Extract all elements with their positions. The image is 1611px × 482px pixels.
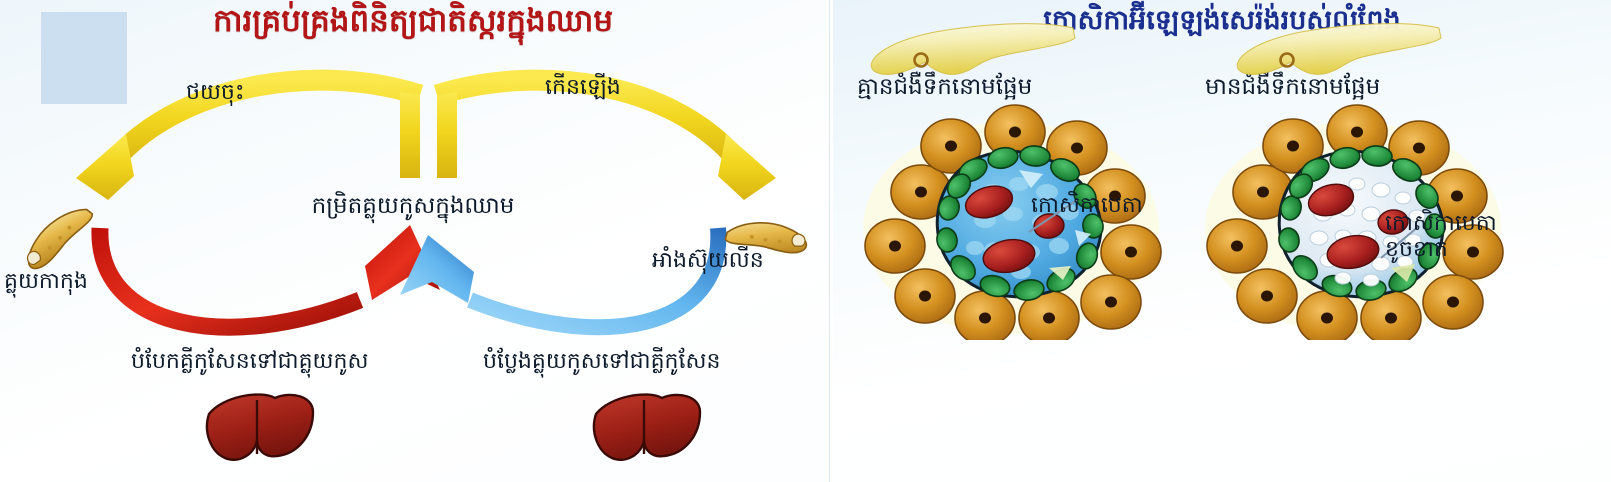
arrow-insulin-shape — [400, 228, 718, 327]
arrow-glucagon-shape — [100, 225, 440, 327]
glucagon-label: គ្លុយកាកុង — [4, 268, 88, 297]
callout-beta-cell-healthy: កោសិកាបេតា — [1031, 192, 1143, 221]
blood-glucose-level-label: កម្រិតគ្លុយកូសក្នុងឈាម — [312, 192, 515, 222]
pancreas-diagram-right — [1225, 18, 1443, 94]
left-panel: ការគ្រប់គ្រងពិនិត្យជាតិស្ករក្នុងឈាម — [0, 0, 826, 482]
callout-line-2: ខូចខាត — [1385, 237, 1611, 263]
arrow-increase-label: កើនឡើង — [545, 74, 621, 103]
callout-line-1: កោសិកាបេតា — [1385, 211, 1611, 237]
slide-root: ការគ្រប់គ្រងពិនិត្យជាតិស្ករក្នុងឈាម — [0, 0, 1611, 482]
right-panel: កោសិកាអ៊ីឡេឡង់សេរ៉ង់របស់លំពែង គ្មានជំងឺទ… — [833, 0, 1611, 482]
glycogen-breakdown-label: បំបែកគ្លីកូសែនទៅជាគ្លុយកូស — [131, 348, 368, 377]
glycogen-synthesis-label: បំប្លែងគ្លុយកូសទៅជាគ្លីកូសែន — [483, 348, 720, 377]
insulin-label: អាំងស៊ុយលីន — [652, 247, 764, 276]
pancreas-diagram-left — [859, 18, 1077, 94]
left-panel-title: ការគ្រប់គ្រងពិនិត្យជាតិស្ករក្នុងឈាម — [0, 2, 826, 41]
pancreas-icon-left — [8, 200, 106, 276]
liver-right-shape — [594, 395, 700, 460]
panel-divider — [826, 0, 833, 482]
callout-beta-cell-damaged: កោសិកាបេតា ខូចខាត — [1385, 211, 1611, 264]
arrow-decrease-shape — [76, 80, 420, 200]
arrow-decrease-label: ថយចុះ — [186, 79, 245, 108]
liver-left-shape — [207, 395, 313, 460]
